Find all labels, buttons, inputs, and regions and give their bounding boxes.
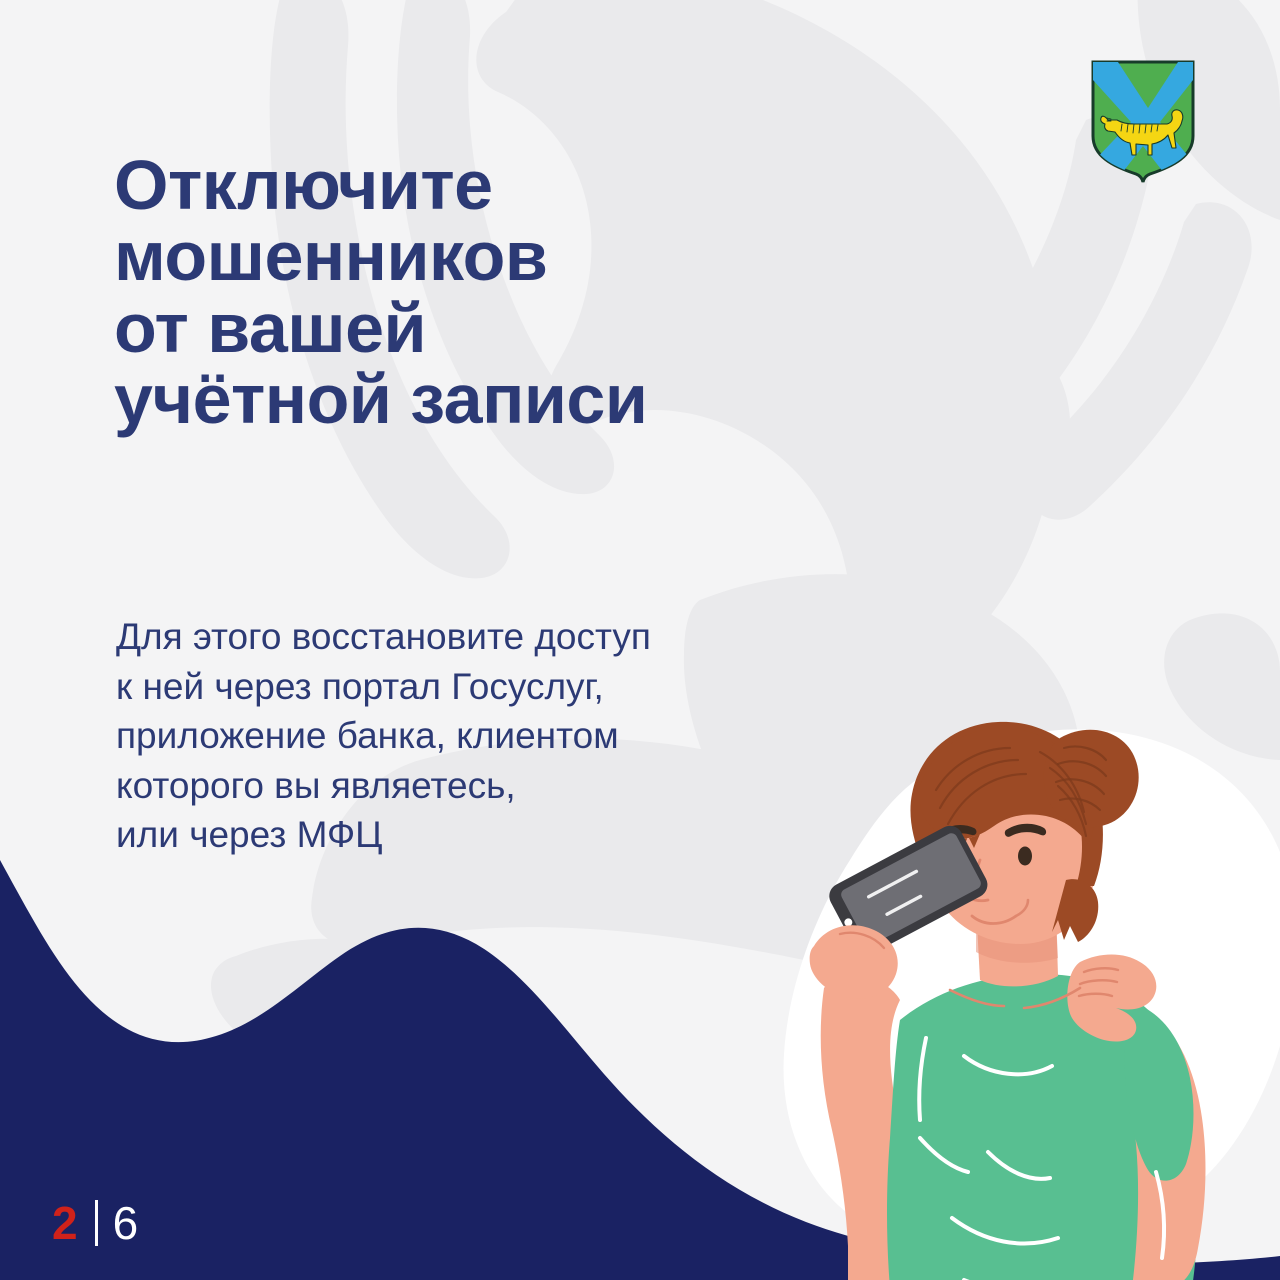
page-current-number: 2 [52, 1200, 78, 1246]
headline-line-1: Отключите [114, 150, 954, 221]
woman-talking-on-phone-illustration [740, 720, 1280, 1280]
primorsky-krai-coat-of-arms [1088, 58, 1198, 186]
page-separator [95, 1200, 98, 1246]
poster-canvas: Отключите мошенников от вашей учётной за… [0, 0, 1280, 1280]
hair-bun [1044, 730, 1139, 827]
page-indicator: 2 6 [52, 1196, 138, 1250]
headline-line-4: учётной записи [114, 364, 954, 435]
page-total-number: 6 [113, 1200, 139, 1246]
right-eye [1018, 847, 1032, 866]
headline-line-3: от вашей [114, 293, 954, 364]
page-title: Отключите мошенников от вашей учётной за… [114, 150, 954, 436]
subtext-line-2: к ней через портал Госуслуг, [116, 662, 916, 712]
subtext-line-1: Для этого восстановите доступ [116, 612, 916, 662]
headline-line-2: мошенников [114, 221, 954, 292]
